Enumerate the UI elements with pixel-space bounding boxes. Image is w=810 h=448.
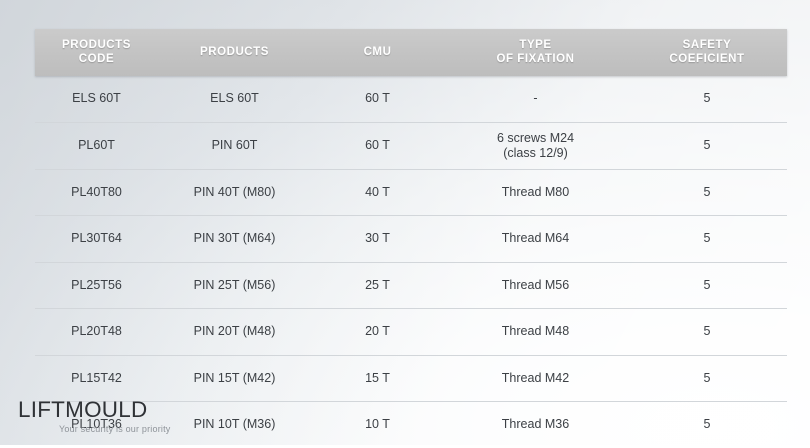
specification-table-container: PRODUCTS CODE PRODUCTS CMU TYPE OF FIXAT… xyxy=(35,29,787,448)
cell-type-of-fixation: - xyxy=(444,76,627,122)
cell-safety-coeficient: 5 xyxy=(627,169,787,216)
column-header-cmu: CMU xyxy=(311,29,444,76)
liftmould-wordmark-text: LIFTMOULD xyxy=(18,398,147,422)
cell-cmu: 15 T xyxy=(311,355,444,402)
cell-products-code: PL60T xyxy=(35,122,158,169)
cell-type-of-fixation: Thread M64 xyxy=(444,216,627,263)
cell-type-of-fixation: Thread M36 xyxy=(444,402,627,448)
table-row: PL60T PIN 60T 60 T 6 screws M24 (class 1… xyxy=(35,122,787,169)
column-header-line-1: SAFETY xyxy=(631,38,783,52)
cell-cmu: 30 T xyxy=(311,216,444,263)
table-row: PL20T48 PIN 20T (M48) 20 T Thread M48 5 xyxy=(35,309,787,356)
cell-safety-coeficient: 5 xyxy=(627,262,787,309)
cell-products: PIN 15T (M42) xyxy=(158,355,311,402)
table-header: PRODUCTS CODE PRODUCTS CMU TYPE OF FIXAT… xyxy=(35,29,787,76)
cell-products-code: PL40T80 xyxy=(35,169,158,216)
cell-safety-coeficient: 5 xyxy=(627,309,787,356)
table-row: PL25T56 PIN 25T (M56) 25 T Thread M56 5 xyxy=(35,262,787,309)
column-header-line-2: COEFICIENT xyxy=(631,52,783,66)
cell-safety-coeficient: 5 xyxy=(627,355,787,402)
table-row: PL40T80 PIN 40T (M80) 40 T Thread M80 5 xyxy=(35,169,787,216)
cell-products: PIN 30T (M64) xyxy=(158,216,311,263)
column-header-line-1: TYPE xyxy=(448,38,623,52)
specification-table: PRODUCTS CODE PRODUCTS CMU TYPE OF FIXAT… xyxy=(35,29,787,448)
table-body: ELS 60T ELS 60T 60 T - 5 PL60T PIN 60T 6… xyxy=(35,76,787,448)
cell-products: PIN 25T (M56) xyxy=(158,262,311,309)
table-row: PL30T64 PIN 30T (M64) 30 T Thread M64 5 xyxy=(35,216,787,263)
cell-cmu: 60 T xyxy=(311,122,444,169)
column-header-safety-coeficient: SAFETY COEFICIENT xyxy=(627,29,787,76)
liftmould-tagline: Your security is our priority xyxy=(59,424,267,434)
cell-products: ELS 60T xyxy=(158,76,311,122)
column-header-line-1: CMU xyxy=(315,45,440,59)
cell-fixation-line-2: (class 12/9) xyxy=(448,146,623,161)
column-header-type-of-fixation: TYPE OF FIXATION xyxy=(444,29,627,76)
cell-type-of-fixation: Thread M80 xyxy=(444,169,627,216)
cell-products-code: ELS 60T xyxy=(35,76,158,122)
cell-safety-coeficient: 5 xyxy=(627,76,787,122)
cell-products: PIN 20T (M48) xyxy=(158,309,311,356)
cell-cmu: 25 T xyxy=(311,262,444,309)
cell-products-code: PL15T42 xyxy=(35,355,158,402)
cell-type-of-fixation: Thread M42 xyxy=(444,355,627,402)
cell-cmu: 10 T xyxy=(311,402,444,448)
cell-safety-coeficient: 5 xyxy=(627,402,787,448)
cell-cmu: 60 T xyxy=(311,76,444,122)
cell-products: PIN 60T xyxy=(158,122,311,169)
cell-cmu: 40 T xyxy=(311,169,444,216)
cell-products-code: PL20T48 xyxy=(35,309,158,356)
cell-products-code: PL30T64 xyxy=(35,216,158,263)
column-header-line-1: PRODUCTS xyxy=(39,38,154,52)
cell-fixation-line-1: - xyxy=(448,91,623,106)
cell-safety-coeficient: 5 xyxy=(627,122,787,169)
liftmould-wordmark-icon: LIFTMOULD xyxy=(17,398,169,423)
table-header-row: PRODUCTS CODE PRODUCTS CMU TYPE OF FIXAT… xyxy=(35,29,787,76)
column-header-line-2: CODE xyxy=(39,52,154,66)
cell-fixation-line-1: 6 screws M24 xyxy=(448,131,623,146)
slide-canvas: PRODUCTS CODE PRODUCTS CMU TYPE OF FIXAT… xyxy=(0,0,810,445)
cell-type-of-fixation: Thread M56 xyxy=(444,262,627,309)
cell-cmu: 20 T xyxy=(311,309,444,356)
cell-products: PIN 40T (M80) xyxy=(158,169,311,216)
liftmould-logo: LIFTMOULD Your security is our priority xyxy=(17,398,267,434)
column-header-products: PRODUCTS xyxy=(158,29,311,76)
table-row: ELS 60T ELS 60T 60 T - 5 xyxy=(35,76,787,122)
column-header-line-2: OF FIXATION xyxy=(448,52,623,66)
column-header-line-1: PRODUCTS xyxy=(162,45,307,59)
cell-type-of-fixation: Thread M48 xyxy=(444,309,627,356)
cell-type-of-fixation: 6 screws M24 (class 12/9) xyxy=(444,122,627,169)
cell-safety-coeficient: 5 xyxy=(627,216,787,263)
table-row: PL15T42 PIN 15T (M42) 15 T Thread M42 5 xyxy=(35,355,787,402)
cell-products-code: PL25T56 xyxy=(35,262,158,309)
column-header-products-code: PRODUCTS CODE xyxy=(35,29,158,76)
